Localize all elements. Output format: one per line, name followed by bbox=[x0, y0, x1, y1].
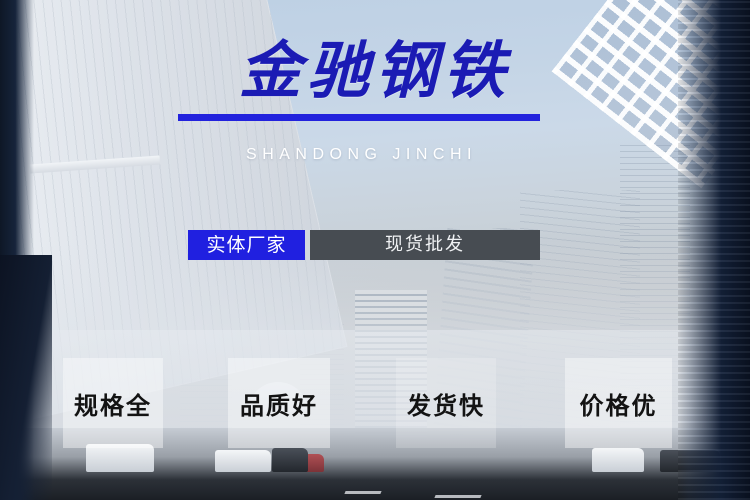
feature-list: 规格全 品质好 发货快 价格优 bbox=[0, 358, 750, 450]
badge-wholesale: 现货批发 bbox=[310, 230, 540, 260]
badge-manufacturer: 实体厂家 bbox=[188, 230, 305, 260]
banner-content: 金驰钢铁 SHANDONG JINCHI 实体厂家 现货批发 规格全 品质好 发… bbox=[0, 0, 750, 500]
company-name-pinyin-subtitle: SHANDONG JINCHI bbox=[0, 146, 723, 164]
feature-box-good-price: 价格优 bbox=[565, 358, 672, 448]
title-underline-rule bbox=[178, 114, 540, 121]
feature-box-fast-delivery: 发货快 bbox=[396, 358, 496, 448]
feature-box-full-specifications: 规格全 bbox=[63, 358, 163, 448]
feature-box-good-quality: 品质好 bbox=[228, 358, 330, 448]
company-name-title: 金驰钢铁 bbox=[0, 34, 750, 108]
steel-company-banner: 金驰钢铁 SHANDONG JINCHI 实体厂家 现货批发 规格全 品质好 发… bbox=[0, 0, 750, 500]
